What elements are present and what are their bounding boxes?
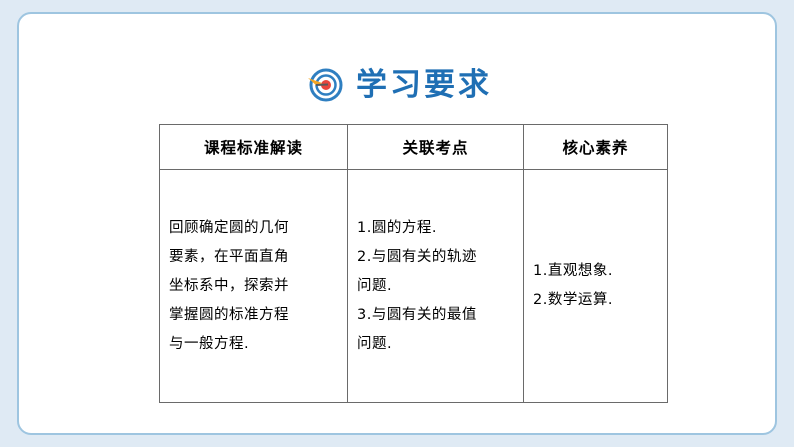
cell-literacy: 1.直观想象. 2.数学运算. — [524, 170, 668, 403]
cell-standard-line: 要素，在平面直角 — [169, 243, 338, 272]
table-header-exam-points: 关联考点 — [348, 125, 524, 170]
target-dart-icon — [306, 65, 346, 105]
cell-standard-line: 回顾确定圆的几何 — [169, 214, 338, 243]
title-row: 学习要求 — [19, 59, 779, 111]
table-header-standard: 课程标准解读 — [160, 125, 348, 170]
cell-exam-line: 2.与圆有关的轨迹 — [357, 243, 514, 272]
cell-exam-points: 1.圆的方程. 2.与圆有关的轨迹 问题. 3.与圆有关的最值 问题. — [348, 170, 524, 403]
cell-literacy-line: 1.直观想象. — [533, 257, 658, 286]
cell-exam-line: 问题. — [357, 330, 514, 359]
cell-exam-line: 3.与圆有关的最值 — [357, 301, 514, 330]
learning-requirements-table: 课程标准解读 关联考点 核心素养 回顾确定圆的几何 要素，在平面直角 坐标系中，… — [159, 124, 668, 403]
cell-standard-line: 与一般方程. — [169, 330, 338, 359]
cell-standard: 回顾确定圆的几何 要素，在平面直角 坐标系中，探索并 掌握圆的标准方程 与一般方… — [160, 170, 348, 403]
page-title: 学习要求 — [356, 70, 492, 101]
table-header-literacy: 核心素养 — [524, 125, 668, 170]
table-header-row: 课程标准解读 关联考点 核心素养 — [160, 125, 668, 170]
cell-exam-line: 1.圆的方程. — [357, 214, 514, 243]
cell-standard-line: 坐标系中，探索并 — [169, 272, 338, 301]
table-row: 回顾确定圆的几何 要素，在平面直角 坐标系中，探索并 掌握圆的标准方程 与一般方… — [160, 170, 668, 403]
cell-standard-line: 掌握圆的标准方程 — [169, 301, 338, 330]
slide-card: 学习要求 课程标准解读 关联考点 核心素养 回顾确定圆的几何 要素，在平面直角 … — [17, 12, 777, 435]
slide-root: 学习要求 课程标准解读 关联考点 核心素养 回顾确定圆的几何 要素，在平面直角 … — [0, 0, 794, 447]
cell-exam-line: 问题. — [357, 272, 514, 301]
cell-literacy-line: 2.数学运算. — [533, 286, 658, 315]
